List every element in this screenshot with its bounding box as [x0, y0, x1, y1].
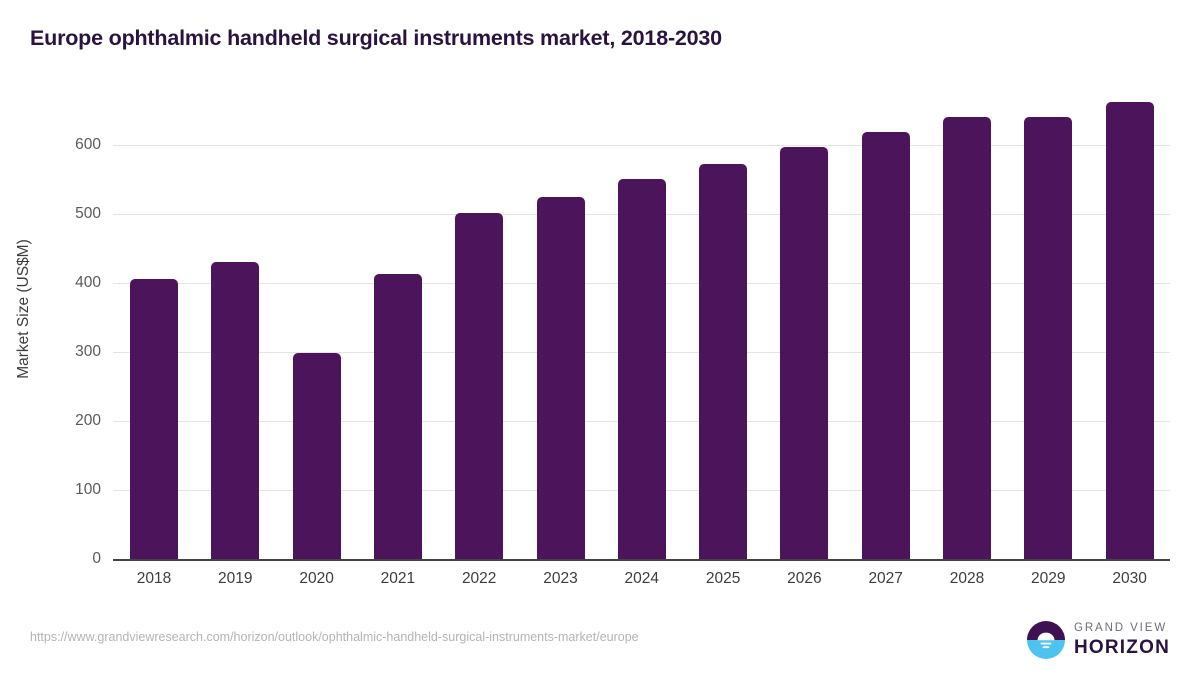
- gridline: [113, 145, 1170, 146]
- bar[interactable]: [374, 274, 422, 559]
- x-tick-label: 2030: [1090, 570, 1170, 588]
- horizon-logo-icon: [1027, 621, 1065, 659]
- bar[interactable]: [211, 262, 259, 559]
- y-tick-label: 200: [41, 412, 101, 430]
- logo-horizon: HORIZON: [1074, 638, 1170, 657]
- chart-page: Europe ophthalmic handheld surgical inst…: [0, 0, 1200, 675]
- x-axis-line: [113, 559, 1170, 561]
- bar[interactable]: [130, 279, 178, 559]
- x-tick-label: 2018: [114, 570, 194, 588]
- bar[interactable]: [699, 164, 747, 559]
- logo-grand-view: GRAND VIEW: [1074, 623, 1170, 635]
- brand-logo: GRAND VIEW HORIZON: [1027, 620, 1170, 660]
- y-tick-label: 100: [41, 481, 101, 499]
- x-tick-label: 2023: [521, 570, 601, 588]
- y-axis-title: Market Size (US$M): [15, 139, 33, 479]
- bar[interactable]: [862, 132, 910, 559]
- bar[interactable]: [1024, 117, 1072, 559]
- bar[interactable]: [943, 117, 991, 559]
- y-tick-label: 300: [41, 343, 101, 361]
- x-tick-label: 2028: [927, 570, 1007, 588]
- plot-area: [113, 100, 1170, 559]
- x-tick-label: 2025: [683, 570, 763, 588]
- x-tick-label: 2027: [846, 570, 926, 588]
- y-tick-label: 0: [41, 550, 101, 568]
- bar[interactable]: [293, 353, 341, 559]
- x-tick-label: 2026: [764, 570, 844, 588]
- y-tick-label: 400: [41, 274, 101, 292]
- x-tick-label: 2022: [439, 570, 519, 588]
- x-tick-label: 2029: [1008, 570, 1088, 588]
- x-tick-label: 2019: [195, 570, 275, 588]
- x-tick-label: 2020: [277, 570, 357, 588]
- bar[interactable]: [537, 197, 585, 559]
- bar[interactable]: [618, 179, 666, 559]
- logo-circle-icon: [1027, 621, 1065, 659]
- y-tick-label: 600: [41, 136, 101, 154]
- source-url[interactable]: https://www.grandviewresearch.com/horizo…: [30, 630, 639, 644]
- bar[interactable]: [780, 147, 828, 559]
- logo-text: GRAND VIEW HORIZON: [1074, 623, 1170, 657]
- y-axis-ticks: 0100200300400500600: [33, 100, 101, 559]
- y-tick-label: 500: [41, 205, 101, 223]
- bar[interactable]: [1106, 102, 1154, 559]
- x-tick-label: 2021: [358, 570, 438, 588]
- page-title: Europe ophthalmic handheld surgical inst…: [30, 26, 722, 51]
- x-tick-label: 2024: [602, 570, 682, 588]
- bar[interactable]: [455, 213, 503, 559]
- x-axis-ticks: 2018201920202021202220232024202520262027…: [113, 570, 1170, 596]
